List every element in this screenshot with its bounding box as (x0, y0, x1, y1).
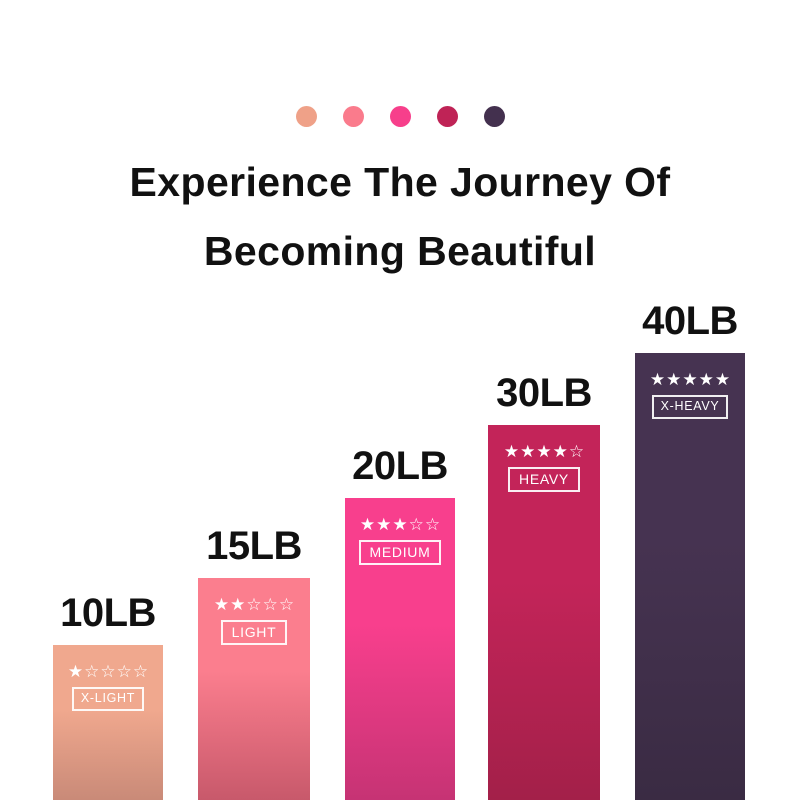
star-empty-icon: ☆ (246, 596, 261, 613)
bar-group[interactable]: 20LB★★★☆☆MEDIUM (345, 440, 455, 800)
star-empty-icon: ☆ (279, 596, 294, 613)
bar-weight-label: 15LB (198, 526, 310, 566)
star-empty-icon: ☆ (84, 663, 99, 680)
star-filled-icon: ★ (68, 663, 83, 680)
tier-badge: MEDIUM (359, 540, 442, 565)
tier-badge: X-HEAVY (652, 395, 729, 419)
star-filled-icon: ★ (376, 516, 391, 533)
star-filled-icon: ★ (230, 596, 245, 613)
bar-weight-label: 20LB (345, 446, 455, 486)
rating-stars: ★★★☆☆ (360, 516, 440, 533)
bar-content: ★★☆☆☆LIGHT (198, 596, 310, 645)
tier-badge: HEAVY (508, 467, 580, 492)
star-filled-icon: ★ (392, 516, 407, 533)
bar-group[interactable]: 40LB★★★★★X-HEAVY (635, 295, 745, 800)
tier-badge: LIGHT (221, 620, 288, 645)
bar-weight-label: 30LB (488, 373, 600, 413)
rating-stars: ★★★★☆ (504, 443, 584, 460)
bar[interactable]: ★★★★★X-HEAVY (635, 353, 745, 800)
star-filled-icon: ★ (699, 371, 714, 388)
bar-weight-label: 40LB (635, 301, 745, 341)
star-filled-icon: ★ (520, 443, 535, 460)
rating-stars: ★★★★★ (650, 371, 730, 388)
bar-content: ★★★☆☆MEDIUM (345, 516, 455, 565)
rating-stars: ★☆☆☆☆ (68, 663, 148, 680)
bar-weight-label: 10LB (53, 593, 163, 633)
bar-content: ★★★★☆HEAVY (488, 443, 600, 492)
bar[interactable]: ★★★☆☆MEDIUM (345, 498, 455, 800)
star-filled-icon: ★ (682, 371, 697, 388)
star-empty-icon: ☆ (263, 596, 278, 613)
star-empty-icon: ☆ (425, 516, 440, 533)
star-filled-icon: ★ (504, 443, 519, 460)
star-filled-icon: ★ (214, 596, 229, 613)
star-filled-icon: ★ (650, 371, 665, 388)
bar[interactable]: ★★★★☆HEAVY (488, 425, 600, 800)
star-empty-icon: ☆ (100, 663, 115, 680)
star-empty-icon: ☆ (409, 516, 424, 533)
star-filled-icon: ★ (553, 443, 568, 460)
star-filled-icon: ★ (536, 443, 551, 460)
bar-group[interactable]: 15LB★★☆☆☆LIGHT (198, 520, 310, 800)
star-empty-icon: ☆ (133, 663, 148, 680)
star-filled-icon: ★ (715, 371, 730, 388)
rating-stars: ★★☆☆☆ (214, 596, 294, 613)
product-infographic: Experience The Journey Of Becoming Beaut… (0, 0, 800, 800)
bar-content: ★☆☆☆☆X-LIGHT (53, 663, 163, 711)
bar-group[interactable]: 10LB★☆☆☆☆X-LIGHT (53, 587, 163, 800)
bar[interactable]: ★★☆☆☆LIGHT (198, 578, 310, 800)
star-filled-icon: ★ (360, 516, 375, 533)
star-empty-icon: ☆ (569, 443, 584, 460)
resistance-bar-chart: 10LB★☆☆☆☆X-LIGHT15LB★★☆☆☆LIGHT20LB★★★☆☆M… (0, 0, 800, 800)
star-filled-icon: ★ (666, 371, 681, 388)
bar-content: ★★★★★X-HEAVY (635, 371, 745, 419)
tier-badge: X-LIGHT (72, 687, 144, 711)
bar-group[interactable]: 30LB★★★★☆HEAVY (488, 367, 600, 800)
bar[interactable]: ★☆☆☆☆X-LIGHT (53, 645, 163, 800)
star-empty-icon: ☆ (117, 663, 132, 680)
